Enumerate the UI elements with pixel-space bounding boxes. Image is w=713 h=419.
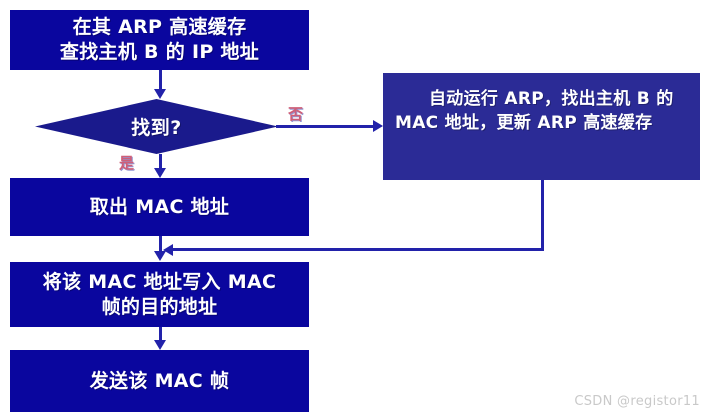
arrowhead-decision-to-autorun — [373, 120, 383, 132]
flow-node-decision-found: 找到? — [35, 99, 278, 154]
connector-lookup-to-decision — [159, 70, 162, 91]
edge-label-yes: 是 — [119, 152, 134, 173]
connector-extract-to-write — [159, 236, 162, 252]
arrowhead-write-to-send — [154, 340, 166, 350]
flow-node-send-mac-frame: 发送该 MAC 帧 — [10, 350, 309, 412]
flow-node-autorun-arp: 自动运行 ARP，找出主机 B 的 MAC 地址，更新 ARP 高速缓存 — [383, 73, 700, 180]
connector-autorun-return-vertical — [541, 180, 544, 251]
flow-node-extract-mac-address: 取出 MAC 地址 — [10, 178, 309, 236]
arrowhead-decision-to-extract — [154, 168, 166, 178]
connector-autorun-return-horizontal — [172, 248, 544, 251]
watermark-text: CSDN @registor11 — [574, 394, 700, 409]
arrowhead-autorun-return — [163, 244, 173, 256]
flowchart-canvas: 在其 ARP 高速缓存 查找主机 B 的 IP 地址 找到? 否 自动运行 AR… — [0, 0, 713, 419]
arrowhead-lookup-to-decision — [154, 89, 166, 99]
connector-decision-to-autorun — [276, 125, 375, 128]
flow-node-lookup-arp-cache: 在其 ARP 高速缓存 查找主机 B 的 IP 地址 — [10, 10, 309, 70]
flow-node-decision-label: 找到? — [35, 99, 278, 154]
flow-node-write-mac-frame: 将该 MAC 地址写入 MAC 帧的目的地址 — [10, 262, 309, 327]
edge-label-no: 否 — [288, 103, 303, 124]
